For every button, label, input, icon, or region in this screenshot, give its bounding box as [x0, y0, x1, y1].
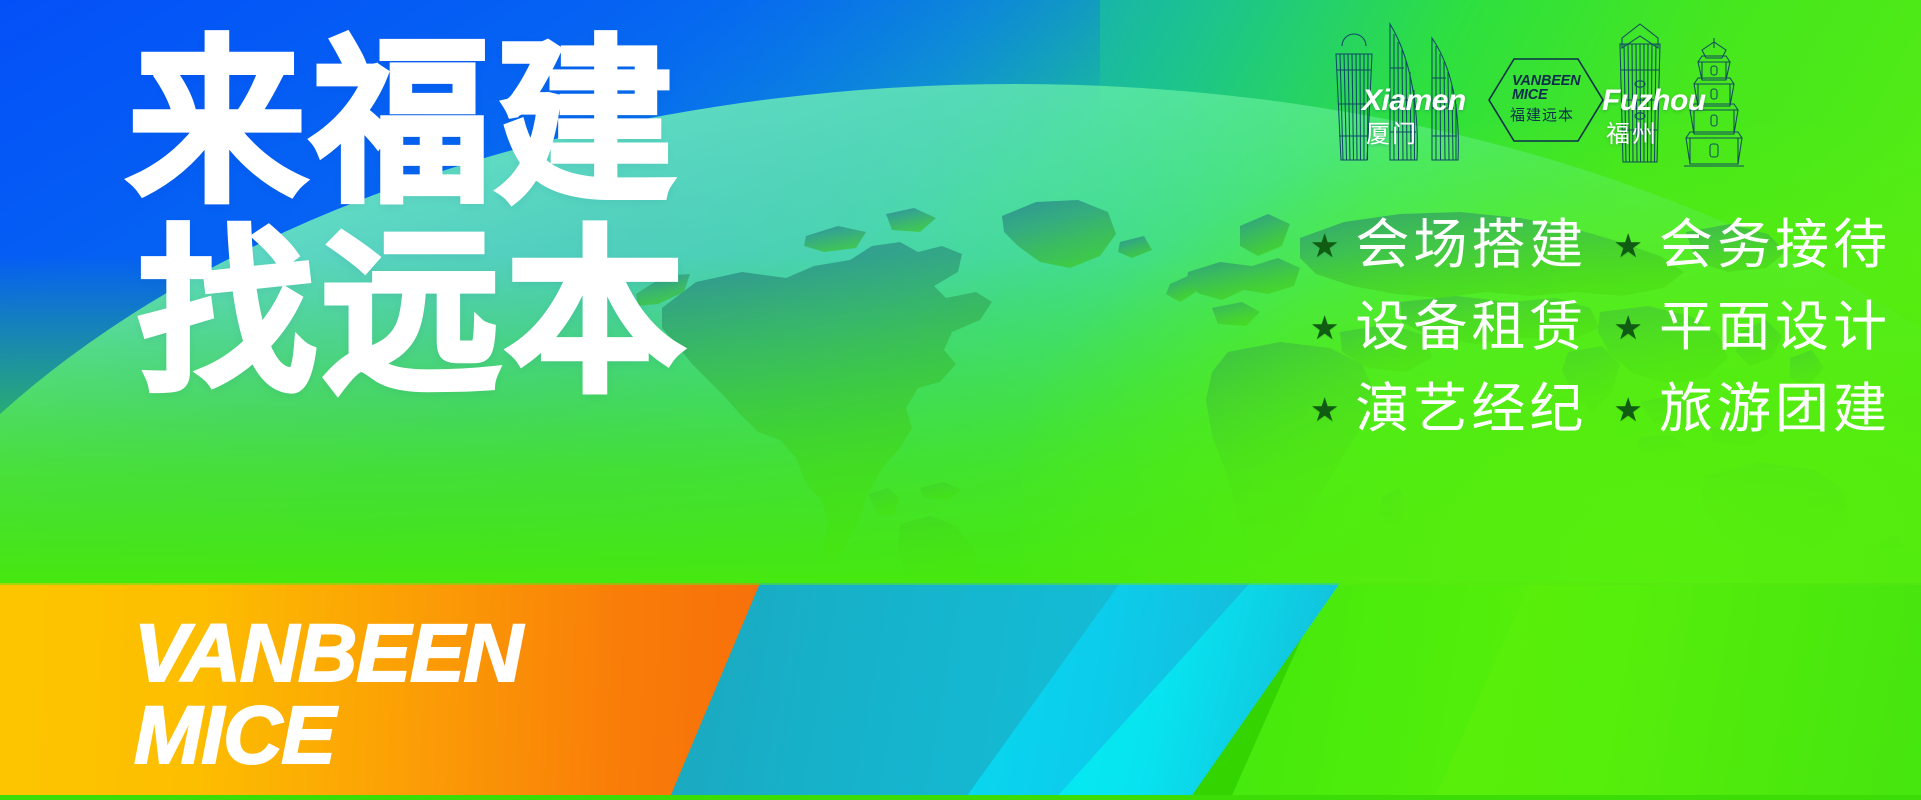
- service-label: 演艺经纪: [1355, 370, 1587, 448]
- promo-banner: 来福建 找远本 ★ 会场搭建 ★ 会务接待 ★ 设备租赁 ★ 平面设计 ★: [0, 0, 1921, 800]
- city-label-xiamen-en: Xiamen: [1362, 86, 1466, 116]
- vanbeen-mice-wordmark: VANBEEN MICE: [134, 615, 522, 775]
- headline: 来福建 找远本: [128, 38, 690, 400]
- service-label: 平面设计: [1659, 288, 1891, 366]
- star-icon: ★: [1310, 229, 1340, 262]
- city-label-xiamen-cn: 厦门: [1366, 122, 1418, 146]
- bottom-brand-bar: VANBEEN MICE: [0, 583, 1921, 800]
- star-icon: ★: [1310, 393, 1340, 426]
- vanbeen-hex-badge[interactable]: VANBEEN MICE 福建远本: [1486, 56, 1606, 144]
- badge-brand-line-2: MICE: [1512, 88, 1580, 102]
- bar-top-edge: [0, 583, 1921, 585]
- wordmark-line-2: MICE: [134, 697, 522, 775]
- headline-line-2: 找远本: [138, 228, 690, 400]
- badge-brand-name: VANBEEN MICE: [1512, 74, 1580, 102]
- service-item[interactable]: ★ 会场搭建: [1304, 206, 1594, 284]
- star-icon: ★: [1613, 393, 1643, 426]
- service-item[interactable]: ★ 平面设计: [1607, 288, 1897, 366]
- city-logo-cluster: VANBEEN MICE 福建远本 Xiamen 厦门 Fuzhou 福州: [1318, 8, 1828, 178]
- bar-bottom-edge: [0, 795, 1921, 800]
- service-label: 会场搭建: [1355, 206, 1587, 284]
- banner-main-stage: 来福建 找远本 ★ 会场搭建 ★ 会务接待 ★ 设备租赁 ★ 平面设计 ★: [0, 0, 1921, 585]
- star-icon: ★: [1613, 311, 1643, 344]
- services-list: ★ 会场搭建 ★ 会务接待 ★ 设备租赁 ★ 平面设计 ★ 演艺经纪 ★ 旅游团: [1304, 206, 1897, 448]
- star-icon: ★: [1613, 229, 1643, 262]
- service-label: 设备租赁: [1355, 288, 1587, 366]
- city-label-fuzhou-cn: 福州: [1606, 122, 1658, 146]
- service-item[interactable]: ★ 旅游团建: [1607, 370, 1897, 448]
- service-item[interactable]: ★ 演艺经纪: [1304, 370, 1594, 448]
- wordmark-line-1: VANBEEN: [134, 615, 522, 693]
- service-label: 旅游团建: [1659, 370, 1891, 448]
- city-label-fuzhou-en: Fuzhou: [1602, 86, 1706, 116]
- badge-brand-cn: 福建远本: [1510, 108, 1574, 123]
- headline-line-1: 来福建: [128, 38, 690, 210]
- badge-brand-line-1: VANBEEN: [1512, 74, 1580, 88]
- service-item[interactable]: ★ 会务接待: [1607, 206, 1897, 284]
- service-label: 会务接待: [1659, 206, 1891, 284]
- star-icon: ★: [1310, 311, 1340, 344]
- service-item[interactable]: ★ 设备租赁: [1304, 288, 1594, 366]
